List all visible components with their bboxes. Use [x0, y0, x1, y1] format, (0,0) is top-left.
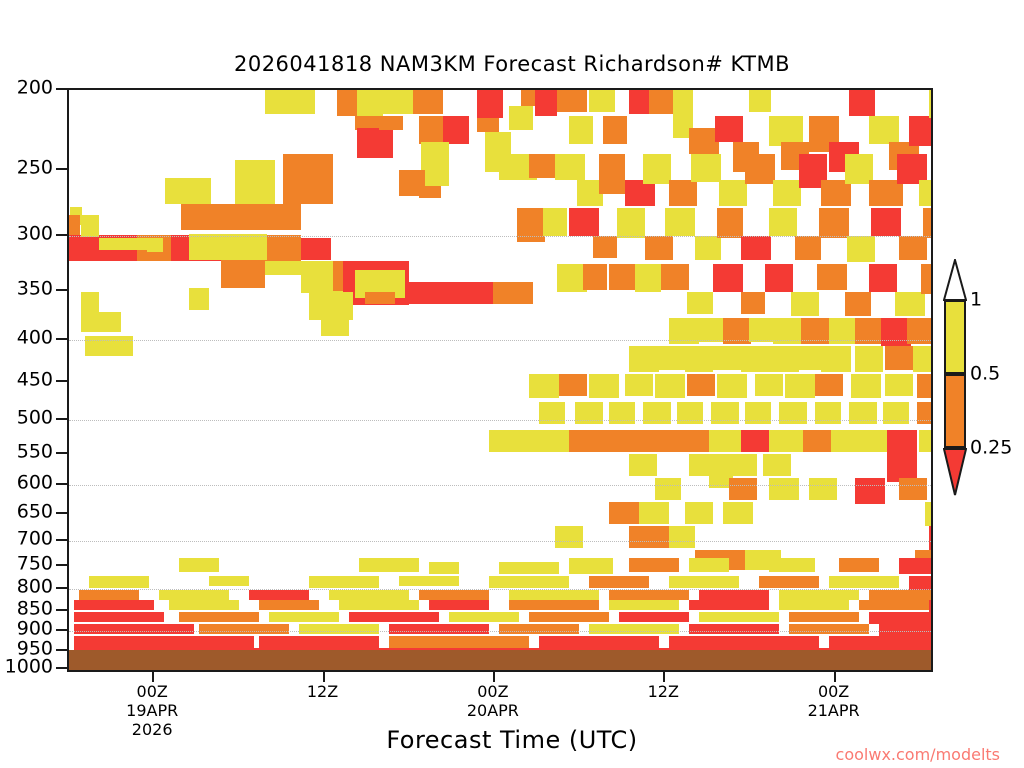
heatmap-cell — [349, 612, 439, 622]
gridline — [69, 340, 931, 341]
heatmap-cell — [189, 288, 209, 310]
heatmap-cell — [147, 238, 163, 252]
heatmap-cell — [81, 215, 99, 237]
y-tick-label: 400 — [17, 328, 53, 347]
heatmap-cell — [609, 502, 639, 524]
y-tick-label: 900 — [17, 620, 53, 639]
heatmap-cell — [729, 478, 757, 500]
colorbar-down-arrow-icon — [943, 448, 967, 496]
heatmap-cell — [717, 374, 747, 398]
y-tick-mark — [56, 380, 67, 382]
gridline — [69, 485, 931, 486]
gridline — [69, 236, 931, 237]
colorbar-tick-label: 0.25 — [970, 439, 1012, 458]
heatmap-cell — [779, 600, 849, 610]
heatmap-cell — [741, 430, 769, 452]
heatmap-cell — [189, 234, 221, 260]
heatmap-cell — [249, 590, 309, 600]
heatmap-cell — [869, 590, 933, 600]
heatmap-cell — [741, 236, 771, 260]
heatmap-cell — [713, 346, 743, 370]
heatmap-cell — [669, 576, 739, 588]
y-tick-label: 800 — [17, 578, 53, 597]
gridline — [69, 589, 931, 590]
colorbar-segment-yellow — [944, 300, 966, 374]
heatmap-cell — [713, 264, 743, 292]
heatmap-cell — [499, 562, 559, 574]
heatmap-cell — [259, 636, 379, 648]
heatmap-cell — [235, 160, 275, 204]
heatmap-cell — [379, 116, 403, 130]
heatmap-cell — [755, 374, 783, 396]
heatmap-cell — [869, 116, 899, 144]
x-tick-label: 00Z 20APR — [467, 682, 519, 720]
colorbar-tick-label: 0.5 — [970, 365, 1000, 384]
heatmap-cell — [919, 180, 933, 206]
heatmap-cell — [769, 208, 797, 236]
heatmap-cell — [569, 116, 593, 144]
heatmap-cell — [169, 600, 239, 610]
heatmap-cell — [629, 346, 659, 372]
y-tick-mark — [56, 168, 67, 170]
heatmap-cell — [555, 154, 585, 180]
heatmap-cell — [259, 600, 319, 610]
heatmap-cell — [529, 154, 557, 178]
gridline — [69, 420, 931, 421]
heatmap-cell — [913, 346, 933, 372]
y-tick-mark — [56, 88, 67, 90]
heatmap-cell — [301, 238, 331, 260]
heatmap-cell — [509, 106, 533, 130]
heatmap-cell — [845, 292, 871, 316]
heatmap-cell — [879, 624, 933, 636]
heatmap-cell — [745, 154, 775, 184]
heatmap-cell — [899, 558, 933, 574]
heatmap-cell — [299, 624, 379, 634]
y-tick-mark — [56, 629, 67, 631]
heatmap-cell — [655, 374, 685, 398]
heatmap-cell — [649, 88, 673, 114]
heatmap-cell — [789, 624, 869, 634]
heatmap-cell — [643, 154, 671, 184]
heatmap-cell — [493, 282, 533, 304]
heatmap-cell — [859, 600, 929, 610]
heatmap-cell — [617, 208, 645, 238]
heatmap-cell — [309, 292, 353, 320]
chart-page: 2026041818 NAM3KM Forecast Richardson# K… — [0, 0, 1024, 768]
heatmap-cell — [629, 526, 669, 548]
heatmap-cell — [773, 180, 801, 206]
heatmap-cell — [909, 576, 933, 590]
heatmap-cell — [429, 562, 459, 574]
heatmap-cell — [359, 558, 419, 572]
x-tick-label: 12Z — [648, 682, 679, 701]
y-tick-mark — [56, 512, 67, 514]
heatmap-cell — [477, 88, 503, 118]
x-tick-label: 00Z 21APR — [808, 682, 860, 720]
heatmap-cell — [165, 178, 211, 204]
heatmap-cell — [723, 502, 753, 524]
heatmap-cell — [365, 292, 395, 304]
heatmap-cell — [659, 346, 687, 370]
heatmap-cell — [715, 116, 743, 142]
heatmap-cell — [629, 558, 679, 572]
heatmap-cell — [809, 478, 837, 500]
x-tick-mark — [152, 672, 154, 682]
heatmap-cell — [689, 558, 729, 572]
heatmap-cell — [79, 590, 139, 600]
heatmap-cell — [719, 180, 747, 206]
heatmap-cell — [831, 430, 887, 452]
heatmap-cell — [791, 292, 819, 316]
y-tick-mark — [56, 649, 67, 651]
heatmap-cell — [699, 590, 769, 600]
heatmap-cell — [917, 374, 933, 398]
colorbar-up-arrow-icon — [943, 259, 967, 301]
heatmap-cell — [74, 612, 164, 622]
heatmap-cell — [557, 88, 587, 112]
heatmap-cell — [337, 88, 357, 116]
x-tick-mark — [834, 672, 836, 682]
heatmap-cell — [74, 636, 254, 648]
heatmap-cell — [159, 590, 229, 600]
heatmap-cell — [869, 612, 933, 624]
heatmap-cell — [871, 208, 901, 236]
heatmap-cell — [855, 346, 883, 372]
heatmap-cell — [929, 600, 933, 612]
heatmap-cell — [419, 116, 445, 144]
heatmap-cell — [815, 374, 843, 396]
heatmap-cell — [539, 636, 659, 648]
source-watermark: coolwx.com/modelts — [836, 745, 1000, 764]
heatmap-cell — [179, 612, 259, 622]
heatmap-cell — [529, 374, 559, 398]
heatmap-cell — [689, 600, 769, 610]
heatmap-cell — [421, 142, 449, 186]
y-tick-label: 500 — [17, 408, 53, 427]
heatmap-cell — [887, 430, 917, 454]
heatmap-cell — [489, 430, 569, 452]
heatmap-cell — [885, 346, 915, 370]
heatmap-cell — [789, 612, 859, 622]
heatmap-cell — [599, 154, 625, 194]
heatmap-cell — [929, 88, 933, 118]
heatmap-cell — [629, 454, 657, 476]
heatmap-cell — [399, 576, 459, 586]
heatmap-cell — [589, 374, 619, 398]
heatmap-cell — [749, 318, 775, 342]
heatmap-cell — [785, 374, 815, 398]
heatmap-cell — [779, 590, 859, 600]
heatmap-cell — [569, 430, 709, 452]
heatmap-cell — [321, 318, 349, 336]
heatmap-cell — [429, 600, 489, 610]
y-tick-mark — [56, 587, 67, 589]
heatmap-cell — [221, 234, 267, 260]
heatmap-cell — [357, 128, 393, 158]
heatmap-cell — [849, 88, 875, 116]
heatmap-cell — [589, 88, 615, 112]
heatmap-cell — [687, 374, 715, 396]
heatmap-cell — [655, 478, 681, 500]
heatmap-cell — [759, 576, 819, 588]
heatmap-cell — [689, 624, 779, 634]
heatmap-cell — [855, 478, 885, 504]
terrain-band — [69, 650, 931, 670]
y-tick-label: 450 — [17, 370, 53, 389]
heatmap-cell — [669, 180, 697, 206]
heatmap-cell — [769, 430, 803, 452]
heatmap-cell — [509, 590, 599, 600]
heatmap-cell — [329, 590, 409, 600]
heatmap-cell — [929, 526, 933, 550]
heatmap-cell — [89, 576, 149, 588]
heatmap-cell — [769, 478, 799, 500]
heatmap-cell — [851, 374, 881, 398]
heatmap-cell — [85, 312, 121, 332]
heatmap-cell — [583, 264, 607, 290]
gridline — [69, 631, 931, 632]
pressure-axis: 2002503003504004505005506006507007508008… — [0, 88, 67, 672]
y-tick-label: 200 — [17, 79, 53, 98]
heatmap-cell — [265, 88, 315, 114]
heatmap-cell — [741, 346, 769, 372]
y-tick-label: 250 — [17, 159, 53, 178]
heatmap-cell — [603, 116, 627, 144]
heatmap-cell — [741, 292, 765, 314]
richardson-number-colorbar[interactable]: 10.50.25 — [944, 300, 966, 448]
heatmap-cell — [847, 236, 875, 262]
heatmap-cell — [819, 208, 849, 238]
x-tick-mark — [493, 672, 495, 682]
heatmap-cell — [569, 208, 599, 236]
heatmap-cell — [717, 208, 743, 238]
heatmap-cell — [593, 236, 617, 258]
heatmap-cell — [221, 260, 265, 288]
heatmap-cell — [769, 558, 815, 572]
y-tick-label: 1000 — [5, 658, 53, 677]
heatmap-cell — [509, 600, 599, 610]
heatmap-cell — [419, 590, 489, 600]
heatmap-cell — [795, 346, 823, 370]
y-tick-label: 750 — [17, 554, 53, 573]
y-tick-mark — [56, 564, 67, 566]
heatmap-cell — [709, 430, 741, 452]
heatmap-cell — [543, 208, 567, 236]
heatmap-cell — [199, 624, 289, 634]
heatmap-cell — [923, 208, 933, 238]
heatmap-cell — [555, 526, 583, 548]
heatmap-cell — [489, 576, 569, 588]
y-tick-label: 350 — [17, 280, 53, 299]
heatmap-cell — [695, 236, 721, 260]
heatmap-cell — [691, 154, 721, 182]
heatmap-cell — [699, 612, 779, 622]
heatmap-cell — [829, 576, 899, 588]
x-tick-label: 12Z — [307, 682, 338, 701]
heatmap-cell — [765, 264, 793, 292]
colorbar-tick-label: 1 — [970, 291, 982, 310]
heatmap-plot-area[interactable] — [67, 88, 933, 672]
heatmap-cell — [209, 576, 249, 586]
heatmap-cell — [499, 624, 579, 634]
heatmap-cell — [763, 454, 791, 476]
heatmap-cell — [625, 374, 653, 396]
heatmap-cell — [529, 612, 609, 622]
heatmap-cell — [749, 88, 771, 112]
heatmap-cell — [899, 478, 927, 500]
heatmap-cell — [685, 346, 713, 372]
heatmap-cell — [229, 204, 301, 230]
y-tick-mark — [56, 418, 67, 420]
y-tick-mark — [56, 483, 67, 485]
heatmap-cell — [74, 624, 194, 634]
y-tick-mark — [56, 539, 67, 541]
heatmap-cell — [589, 624, 679, 634]
heatmap-cell — [909, 116, 933, 146]
heatmap-cell — [921, 264, 933, 294]
heatmap-cell — [443, 116, 469, 144]
heatmap-cell — [609, 590, 689, 600]
colorbar-segment-orange — [944, 374, 966, 448]
y-tick-mark — [56, 338, 67, 340]
gridline — [69, 541, 931, 542]
heatmap-cell — [687, 292, 713, 314]
heatmap-cell — [179, 558, 219, 572]
heatmap-cell — [629, 88, 651, 114]
y-tick-label: 300 — [17, 224, 53, 243]
y-tick-mark — [56, 234, 67, 236]
heatmap-cell — [803, 430, 831, 452]
heatmap-cell — [389, 624, 489, 634]
y-tick-mark — [56, 289, 67, 291]
heatmap-cell — [895, 292, 925, 316]
x-tick-mark — [663, 672, 665, 682]
heatmap-cell — [899, 236, 927, 260]
y-tick-mark — [56, 609, 67, 611]
heatmap-cell — [665, 208, 695, 236]
y-tick-label: 550 — [17, 443, 53, 462]
heatmap-cell — [669, 636, 819, 648]
heatmap-cell — [283, 154, 333, 204]
heatmap-cell — [839, 558, 879, 572]
y-tick-label: 600 — [17, 474, 53, 493]
x-tick-mark — [323, 672, 325, 682]
heatmap-cell — [413, 88, 443, 114]
heatmap-cell — [339, 600, 419, 610]
heatmap-cell — [661, 264, 689, 290]
heatmap-cell — [389, 636, 529, 648]
heatmap-cell — [419, 186, 441, 198]
y-tick-mark — [56, 452, 67, 454]
heatmap-cell — [869, 264, 897, 292]
heatmap-cell — [795, 236, 821, 260]
heatmap-cell — [635, 264, 661, 292]
y-tick-label: 700 — [17, 529, 53, 548]
heatmap-cell — [885, 374, 913, 396]
heatmap-cell — [535, 88, 557, 116]
heatmap-cell — [645, 236, 673, 260]
heatmap-cell — [559, 374, 587, 396]
heatmap-cell — [309, 576, 379, 588]
y-tick-label: 850 — [17, 599, 53, 618]
heatmap-cell — [919, 430, 933, 452]
heatmap-cell — [477, 118, 499, 132]
heatmap-cell — [925, 502, 933, 526]
heatmap-cell — [609, 600, 679, 610]
heatmap-cell — [99, 238, 147, 250]
heatmap-cell — [409, 282, 493, 304]
heatmap-cell — [639, 502, 669, 524]
page-title: 2026041818 NAM3KM Forecast Richardson# K… — [0, 52, 1024, 76]
heatmap-cell — [669, 526, 695, 548]
heatmap-cell — [269, 612, 339, 622]
heatmap-cell — [821, 346, 851, 372]
heatmap-cell — [817, 264, 847, 290]
heatmap-cell — [569, 558, 613, 574]
heatmap-cell — [449, 612, 519, 622]
y-tick-label: 650 — [17, 503, 53, 522]
heatmap-cell — [69, 215, 80, 235]
heatmap-cell — [74, 600, 154, 610]
y-tick-mark — [56, 667, 67, 669]
heatmap-cell — [619, 612, 689, 622]
heatmap-cell — [685, 502, 713, 524]
heatmap-cell — [731, 454, 757, 476]
heatmap-cells — [69, 90, 931, 670]
heatmap-cell — [589, 576, 649, 588]
